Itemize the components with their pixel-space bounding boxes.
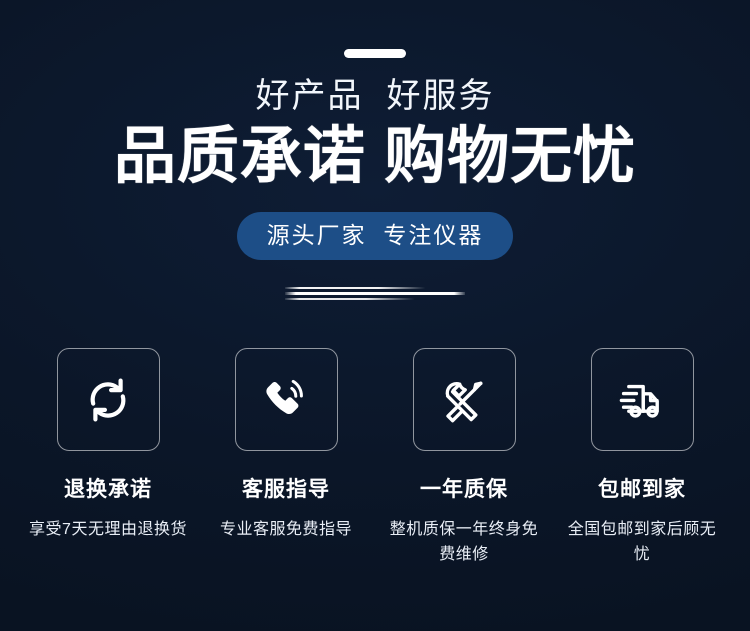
wrench-screwdriver-icon [436, 372, 492, 428]
feature-title: 客服指导 [242, 477, 330, 503]
feature-icon-card [235, 348, 338, 451]
divider-line-top [285, 287, 465, 289]
exchange-arrows-icon [80, 372, 136, 428]
feature-desc: 整机质保一年终身免费维修 [384, 517, 544, 567]
feature-icon-card [57, 348, 160, 451]
feature-title: 一年质保 [420, 477, 508, 503]
feature-title: 退换承诺 [64, 477, 152, 503]
phone-ringing-icon [258, 372, 314, 428]
feature-desc: 享受7天无理由退换货 [29, 517, 187, 542]
banner-subtitle: 好产品 好服务 [0, 75, 750, 117]
banner-headline: 品质承诺 购物无忧 [0, 120, 750, 194]
badge-row: 源头厂家 专注仪器 [0, 212, 750, 260]
features-row: 退换承诺 享受7天无理由退换货 客服指导 专业客服免费指导 [0, 348, 750, 567]
feature-icon-card [413, 348, 516, 451]
feature-item: 包邮到家 全国包邮到家后顾无忧 [553, 348, 731, 567]
delivery-truck-icon [614, 372, 670, 428]
divider-line-bottom [285, 298, 465, 300]
feature-title: 包邮到家 [598, 477, 686, 503]
top-dash-decoration [344, 49, 406, 58]
feature-item: 退换承诺 享受7天无理由退换货 [19, 348, 197, 542]
feature-icon-card [591, 348, 694, 451]
promo-banner: 好产品 好服务 品质承诺 购物无忧 源头厂家 专注仪器 退换承诺 [0, 0, 750, 631]
feature-item: 客服指导 专业客服免费指导 [197, 348, 375, 542]
feature-item: 一年质保 整机质保一年终身免费维修 [375, 348, 553, 567]
feature-desc: 全国包邮到家后顾无忧 [562, 517, 722, 567]
divider-decoration [285, 287, 465, 303]
badge-pill: 源头厂家 专注仪器 [237, 212, 514, 260]
feature-desc: 专业客服免费指导 [220, 517, 352, 542]
divider-line-middle [285, 292, 465, 295]
